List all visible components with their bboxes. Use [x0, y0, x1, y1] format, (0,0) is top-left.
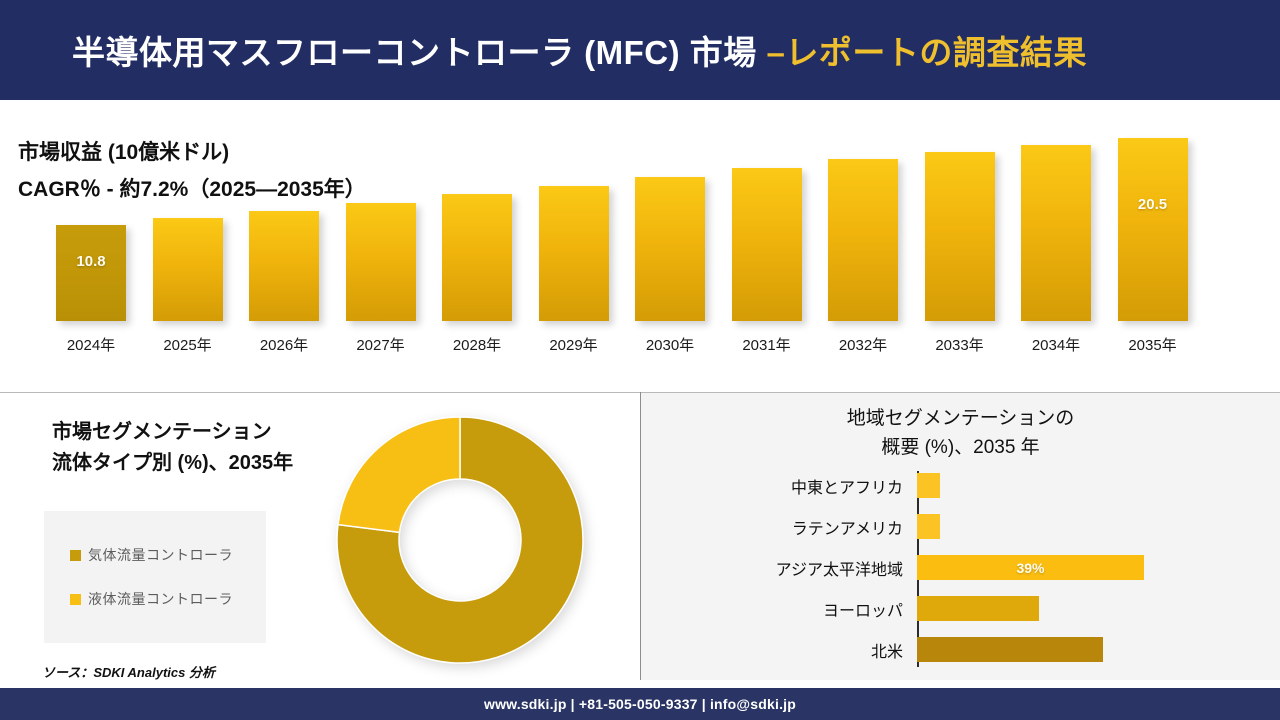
revenue-bar-column[interactable]: 2030年 — [635, 177, 705, 321]
revenue-chart-panel: 市場収益 (10億米ドル) CAGR％ - 約7.2%（2025―2035年） … — [0, 100, 1280, 392]
regional-title: 地域セグメンテーションの 概要 (%)、2035 年 — [641, 405, 1280, 462]
source-note: ソース：SDKI Analytics 分析 — [42, 662, 215, 681]
revenue-bar-column[interactable]: 20.52035年 — [1118, 138, 1188, 321]
revenue-bar-label: 2025年 — [141, 334, 235, 355]
regional-bars-area: 中東とアフリカラテンアメリカアジア太平洋地域39%ヨーロッパ北米 — [641, 471, 1280, 669]
regional-bar-row[interactable]: 中東とアフリカ — [641, 473, 1280, 498]
revenue-bar[interactable] — [153, 218, 223, 321]
legend-label-liquid: 液体流量コントローラ — [88, 589, 233, 609]
regional-bar-label: ヨーロッパ — [641, 597, 913, 621]
revenue-bar-column[interactable]: 2034年 — [1021, 145, 1091, 321]
regional-bar-label: 北米 — [641, 638, 913, 662]
revenue-bar-label: 2033年 — [913, 334, 1007, 355]
revenue-bar[interactable] — [346, 203, 416, 321]
donut-slice[interactable] — [338, 417, 460, 532]
revenue-bars-area: 10.82024年2025年2026年2027年2028年2029年2030年2… — [56, 135, 1236, 363]
revenue-bar-label: 2031年 — [720, 334, 814, 355]
regional-bar[interactable]: 39% — [917, 555, 1144, 580]
donut-chart-svg — [330, 415, 590, 665]
regional-title-line1: 地域セグメンテーションの — [641, 405, 1280, 434]
revenue-bar-column[interactable]: 2025年 — [153, 218, 223, 321]
footer-bar: www.sdki.jp | +81-505-050-9337 | info@sd… — [0, 688, 1280, 720]
revenue-bar[interactable] — [539, 186, 609, 321]
revenue-bar-column[interactable]: 2032年 — [828, 159, 898, 321]
revenue-bar-label: 2032年 — [816, 334, 910, 355]
revenue-bar-label: 2028年 — [430, 334, 524, 355]
revenue-bar[interactable] — [635, 177, 705, 321]
revenue-bar-column[interactable]: 2031年 — [732, 168, 802, 321]
regional-bar-row[interactable]: ラテンアメリカ — [641, 514, 1280, 539]
regional-bar[interactable] — [917, 596, 1039, 621]
revenue-bar-label: 2030年 — [623, 334, 717, 355]
revenue-bar-value: 10.8 — [56, 253, 126, 270]
legend-item-gas[interactable]: 気体流量コントローラ — [70, 545, 266, 565]
regional-bar[interactable] — [917, 514, 940, 539]
regional-bar[interactable] — [917, 637, 1103, 662]
revenue-bar-column[interactable]: 2029年 — [539, 186, 609, 321]
segmentation-title: 市場セグメンテーション 流体タイプ別 (%)、2035年 — [52, 417, 352, 479]
revenue-bar[interactable] — [442, 194, 512, 321]
revenue-bar[interactable] — [925, 152, 995, 321]
revenue-bar[interactable] — [1021, 145, 1091, 321]
revenue-bar[interactable] — [249, 211, 319, 321]
donut-chart — [330, 415, 590, 665]
footer-contact-text[interactable]: www.sdki.jp | +81-505-050-9337 | info@sd… — [484, 696, 796, 712]
segmentation-title-line2: 流体タイプ別 (%)、2035年 — [52, 448, 352, 479]
revenue-bar-column[interactable]: 2033年 — [925, 152, 995, 321]
revenue-bar-value: 20.5 — [1118, 196, 1188, 213]
revenue-bar-label: 2024年 — [44, 334, 138, 355]
regional-bar[interactable] — [917, 473, 940, 498]
header-bar: 半導体用マスフローコントローラ (MFC) 市場 –レポートの調査結果 — [0, 0, 1280, 100]
revenue-bar-column[interactable]: 2028年 — [442, 194, 512, 321]
revenue-bar-column[interactable]: 2027年 — [346, 203, 416, 321]
revenue-bar-column[interactable]: 10.82024年 — [56, 225, 126, 321]
revenue-bar[interactable]: 10.8 — [56, 225, 126, 321]
regional-bar-row[interactable]: ヨーロッパ — [641, 596, 1280, 621]
revenue-bar-label: 2029年 — [527, 334, 621, 355]
revenue-bar[interactable]: 20.5 — [1118, 138, 1188, 321]
segmentation-panel: 市場セグメンテーション 流体タイプ別 (%)、2035年 気体流量コントローラ … — [0, 393, 640, 680]
page-title: 半導体用マスフローコントローラ (MFC) 市場 –レポートの調査結果 — [72, 26, 1087, 74]
regional-bar-label: 中東とアフリカ — [641, 474, 913, 498]
regional-title-line2: 概要 (%)、2035 年 — [641, 434, 1280, 463]
revenue-bar-label: 2034年 — [1009, 334, 1103, 355]
revenue-bar-label: 2026年 — [237, 334, 331, 355]
segmentation-title-line1: 市場セグメンテーション — [52, 417, 352, 448]
page-title-main: 半導体用マスフローコントローラ (MFC) 市場 — [72, 34, 766, 71]
revenue-bar-column[interactable]: 2026年 — [249, 211, 319, 321]
regional-bar-label: アジア太平洋地域 — [641, 556, 913, 580]
regional-bar-row[interactable]: 北米 — [641, 637, 1280, 662]
segmentation-legend: 気体流量コントローラ 液体流量コントローラ — [44, 511, 266, 643]
regional-bar-row[interactable]: アジア太平洋地域39% — [641, 555, 1280, 580]
regional-panel: 地域セグメンテーションの 概要 (%)、2035 年 中東とアフリカラテンアメリ… — [641, 393, 1280, 680]
regional-bar-label: ラテンアメリカ — [641, 515, 913, 539]
page-title-accent: –レポートの調査結果 — [766, 34, 1086, 71]
regional-bar-value: 39% — [1016, 560, 1044, 576]
legend-swatch-liquid — [70, 594, 81, 605]
revenue-bar-label: 2035年 — [1106, 334, 1200, 355]
revenue-bar[interactable] — [828, 159, 898, 321]
revenue-bar[interactable] — [732, 168, 802, 321]
legend-label-gas: 気体流量コントローラ — [88, 545, 233, 565]
legend-item-liquid[interactable]: 液体流量コントローラ — [70, 589, 266, 609]
revenue-bar-label: 2027年 — [334, 334, 428, 355]
legend-swatch-gas — [70, 550, 81, 561]
